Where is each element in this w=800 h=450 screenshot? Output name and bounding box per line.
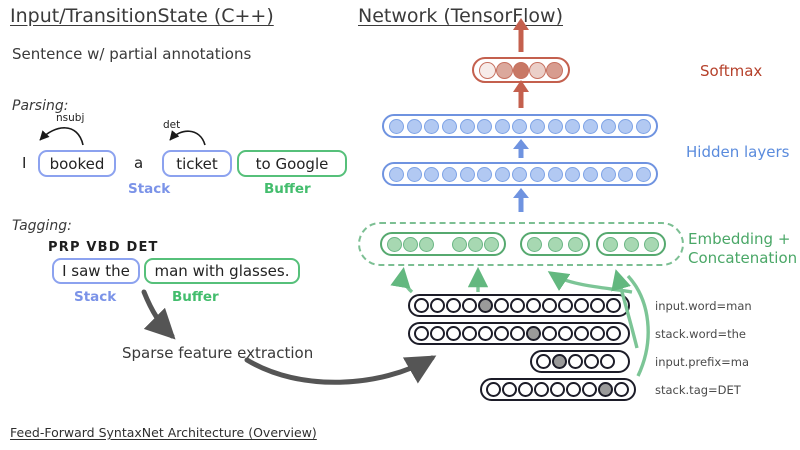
layer-node <box>407 167 422 182</box>
hidden-layer-2[interactable] <box>382 162 658 186</box>
layer-node <box>548 167 563 182</box>
feature-node <box>414 326 429 341</box>
layer-node <box>530 119 545 134</box>
layer-node <box>389 119 404 134</box>
layer-node <box>512 119 527 134</box>
feature-node <box>510 326 525 341</box>
parsing-stack-label: Stack <box>128 181 170 197</box>
feature-row-label: stack.tag=DET <box>655 383 741 397</box>
parse-token-a: a <box>134 154 143 172</box>
layer-node <box>601 119 616 134</box>
arrow-feature-to-embedding-3 <box>552 274 632 292</box>
feature-node <box>550 382 565 397</box>
feature-node <box>600 354 615 369</box>
layer-node <box>424 119 439 134</box>
layer-node <box>442 119 457 134</box>
figure-caption: Feed-Forward SyntaxNet Architecture (Ove… <box>10 425 317 440</box>
embedding-group-2[interactable] <box>520 232 590 256</box>
feature-row[interactable] <box>530 350 630 373</box>
layer-node <box>477 119 492 134</box>
right-panel-title: Network (TensorFlow) <box>358 5 563 27</box>
embedding-node <box>387 237 402 252</box>
feature-node-active <box>552 354 567 369</box>
hidden-layers-label: Hidden layers <box>686 143 789 161</box>
arc-label-nsubj: nsubj <box>56 112 84 124</box>
layer-node <box>565 119 580 134</box>
tagging-label: Tagging: <box>12 218 72 234</box>
feature-node <box>568 354 583 369</box>
feature-node <box>446 298 461 313</box>
feature-node <box>584 354 599 369</box>
embedding-label: Embedding + Concatenation <box>688 230 797 268</box>
feature-row-label: input.prefix=ma <box>655 355 749 369</box>
layer-node <box>495 167 510 182</box>
layer-node <box>495 119 510 134</box>
embedding-node <box>419 237 434 252</box>
embedding-node <box>468 237 483 252</box>
layer-node <box>618 167 633 182</box>
layer-node <box>389 167 404 182</box>
feature-node <box>414 298 429 313</box>
layer-node <box>529 62 546 79</box>
arrowhead-hidden2-to-hidden1 <box>513 139 529 149</box>
layer-node <box>618 119 633 134</box>
feature-node <box>606 326 621 341</box>
dependency-arc-nsubj <box>40 128 83 145</box>
pos-tags: PRP VBD DET <box>48 240 159 255</box>
parsing-buffer-label: Buffer <box>264 181 311 197</box>
layer-node <box>442 167 457 182</box>
arrow-feature-to-embedding-1 <box>403 272 412 292</box>
feature-node <box>510 298 525 313</box>
feature-node <box>494 326 509 341</box>
layer-node <box>601 167 616 182</box>
layer-node <box>513 62 530 79</box>
feature-node <box>574 298 589 313</box>
layer-node <box>548 119 563 134</box>
layer-node <box>479 62 496 79</box>
tagging-stack-label: Stack <box>74 289 116 305</box>
feature-node-active <box>526 326 541 341</box>
layer-node <box>636 119 651 134</box>
layer-node <box>583 119 598 134</box>
layer-node <box>460 119 475 134</box>
feature-node <box>462 326 477 341</box>
feature-node <box>486 382 501 397</box>
arc-label-det: det <box>163 119 180 131</box>
layer-node <box>460 167 475 182</box>
layer-node <box>424 167 439 182</box>
feature-node <box>526 298 541 313</box>
feature-node <box>558 326 573 341</box>
feature-node <box>574 326 589 341</box>
arrow-feature-to-embedding-5 <box>628 276 648 376</box>
feature-node <box>518 382 533 397</box>
embedding-node <box>568 237 583 252</box>
layer-node <box>636 167 651 182</box>
softmax-layer[interactable] <box>472 57 570 83</box>
dependency-arc-det <box>170 131 205 145</box>
feature-row[interactable] <box>408 322 630 345</box>
layer-node <box>512 167 527 182</box>
sparse-feature-extraction-label: Sparse feature extraction <box>122 344 313 362</box>
embedding-node <box>624 237 639 252</box>
tagging-buffer-label: Buffer <box>172 289 219 305</box>
embedding-group-1[interactable] <box>380 232 506 256</box>
feature-row-label: stack.word=the <box>655 327 746 341</box>
feature-node <box>590 326 605 341</box>
embedding-node <box>452 237 467 252</box>
parse-token-buffer[interactable]: to Google <box>237 150 347 177</box>
feature-row[interactable] <box>480 378 636 401</box>
embedding-label-line2: Concatenation <box>688 249 797 268</box>
feature-node <box>542 326 557 341</box>
softmax-label: Softmax <box>700 62 762 80</box>
feature-node <box>478 326 493 341</box>
embedding-label-line1: Embedding + <box>688 230 797 249</box>
left-panel-subtitle: Sentence w/ partial annotations <box>12 45 251 63</box>
feature-node <box>566 382 581 397</box>
embedding-node <box>603 237 618 252</box>
layer-node <box>496 62 513 79</box>
arrowhead-embedding-to-hidden2 <box>513 188 529 198</box>
layer-node <box>565 167 580 182</box>
feature-node <box>582 382 597 397</box>
layer-node <box>546 62 563 79</box>
feature-node <box>502 382 517 397</box>
hidden-layer-1[interactable] <box>382 114 658 138</box>
feature-row[interactable] <box>408 294 630 317</box>
layer-node <box>407 119 422 134</box>
embedding-node <box>548 237 563 252</box>
tagging-stack-box[interactable]: I saw the <box>52 258 140 284</box>
embedding-node <box>484 237 499 252</box>
left-panel-title: Input/TransitionState (C++) <box>10 5 274 27</box>
parse-token-i: I <box>22 154 26 172</box>
embedding-group-3[interactable] <box>596 232 666 256</box>
tagging-buffer-box[interactable]: man with glasses. <box>144 258 300 284</box>
feature-node <box>534 382 549 397</box>
feature-node-active <box>598 382 613 397</box>
feature-node <box>590 298 605 313</box>
embedding-node <box>527 237 542 252</box>
feature-node <box>430 326 445 341</box>
embedding-node <box>403 237 418 252</box>
feature-node <box>536 354 551 369</box>
feature-node <box>462 298 477 313</box>
feature-node <box>430 298 445 313</box>
layer-node <box>477 167 492 182</box>
feature-node <box>558 298 573 313</box>
arrow-to-sparse-features <box>144 292 172 336</box>
layer-node <box>530 167 545 182</box>
parse-token-ticket[interactable]: ticket <box>162 150 232 177</box>
feature-node <box>446 326 461 341</box>
feature-node <box>494 298 509 313</box>
layer-node <box>583 167 598 182</box>
feature-node <box>606 298 621 313</box>
parse-token-booked[interactable]: booked <box>38 150 116 177</box>
feature-node <box>614 382 629 397</box>
feature-node-active <box>478 298 493 313</box>
feature-node <box>542 298 557 313</box>
embedding-node <box>644 237 659 252</box>
feature-row-label: input.word=man <box>655 299 752 313</box>
